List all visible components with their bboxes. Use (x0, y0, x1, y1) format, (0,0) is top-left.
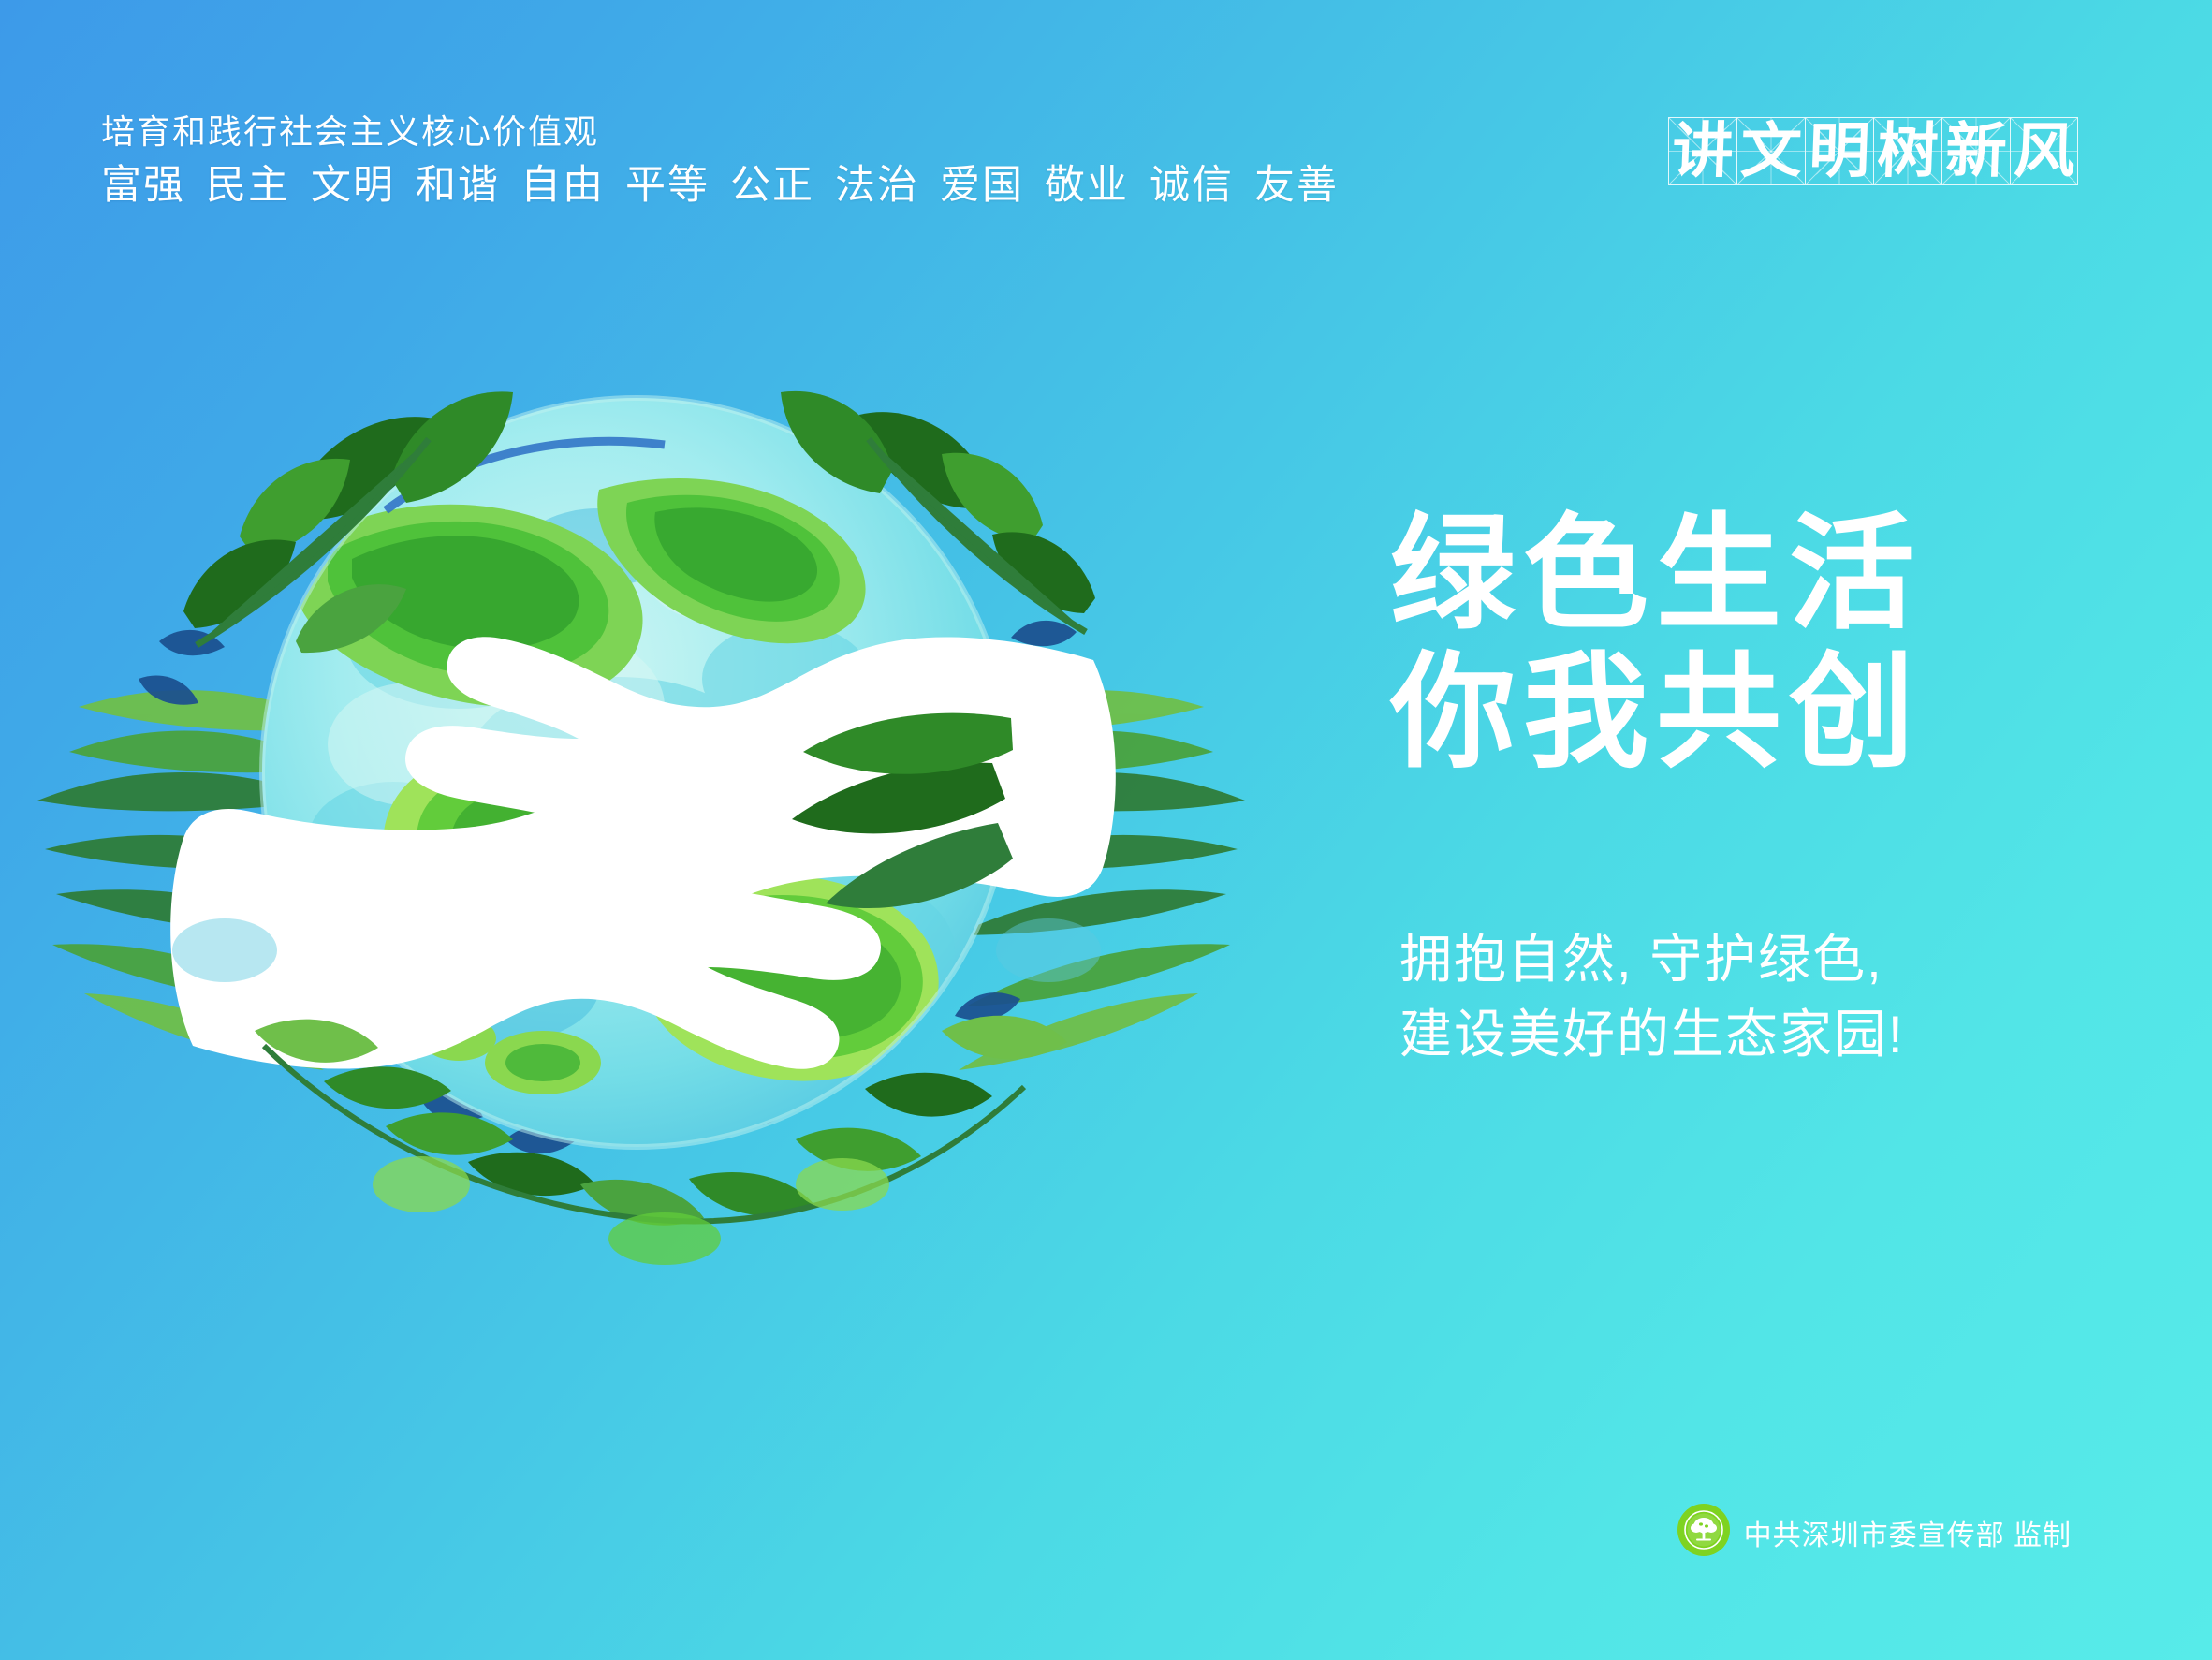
headline-block: 绿色生活 你我共创 (1390, 506, 1922, 783)
public-service-ad-seal-icon (1677, 1503, 1731, 1562)
slogan-cell: 明 (1805, 117, 1873, 185)
slogan-cell: 讲 (1668, 117, 1736, 185)
slogan-cell: 新 (1941, 117, 2010, 185)
core-value-item: 平等 (625, 163, 710, 208)
core-value-item: 法治 (835, 163, 919, 208)
core-value-item: 诚信 (1150, 163, 1234, 208)
slogan-char: 文 (1739, 122, 1803, 182)
core-value-item: 自由 (520, 163, 605, 208)
core-value-item: 敬业 (1045, 163, 1129, 208)
slogan-char: 讲 (1671, 122, 1735, 182)
core-value-item: 爱国 (940, 163, 1024, 208)
slogan-cell: 风 (2010, 117, 2078, 185)
core-value-item: 友善 (1254, 163, 1339, 208)
slogan-cell: 文 (1736, 117, 1805, 185)
subtitle-line-2: 建设美好的生态家园! (1399, 997, 1905, 1072)
core-values-list: 富强民主文明和谐自由平等公正法治爱国敬业诚信友善 (101, 159, 1339, 212)
core-value-item: 文明 (311, 163, 395, 208)
core-values-block: 培育和践行社会主义核心价值观 富强民主文明和谐自由平等公正法治爱国敬业诚信友善 (101, 110, 1339, 212)
earth-hands-illustration (19, 239, 1264, 1306)
subtitle-block: 拥抱自然, 守护绿色, 建设美好的生态家园! (1399, 922, 1905, 1072)
core-values-heading: 培育和践行社会主义核心价值观 (101, 110, 1339, 154)
core-value-item: 公正 (730, 163, 814, 208)
headline-line-1: 绿色生活 (1390, 506, 1922, 644)
core-value-item: 和谐 (416, 163, 500, 208)
subtitle-line-1: 拥抱自然, 守护绿色, (1399, 922, 1905, 997)
slogan-char: 树 (1876, 122, 1940, 182)
poster-canvas: 培育和践行社会主义核心价值观 富强民主文明和谐自由平等公正法治爱国敬业诚信友善 … (0, 0, 2212, 1660)
footer-credit-block: 中共深圳市委宣传部 监制 (1677, 1503, 2072, 1562)
slogan-char: 新 (1944, 122, 2008, 182)
core-value-item: 民主 (206, 163, 290, 208)
core-value-item: 富强 (101, 163, 185, 208)
civility-slogan-grid: 讲 文 明 树 新 风 (1668, 117, 2078, 185)
slogan-char: 风 (2013, 122, 2076, 182)
slogan-cell: 树 (1873, 117, 1941, 185)
slogan-char: 明 (1808, 122, 1871, 182)
footer-credit-text: 中共深圳市委宣传部 监制 (1744, 1512, 2072, 1553)
headline-line-2: 你我共创 (1390, 644, 1922, 783)
